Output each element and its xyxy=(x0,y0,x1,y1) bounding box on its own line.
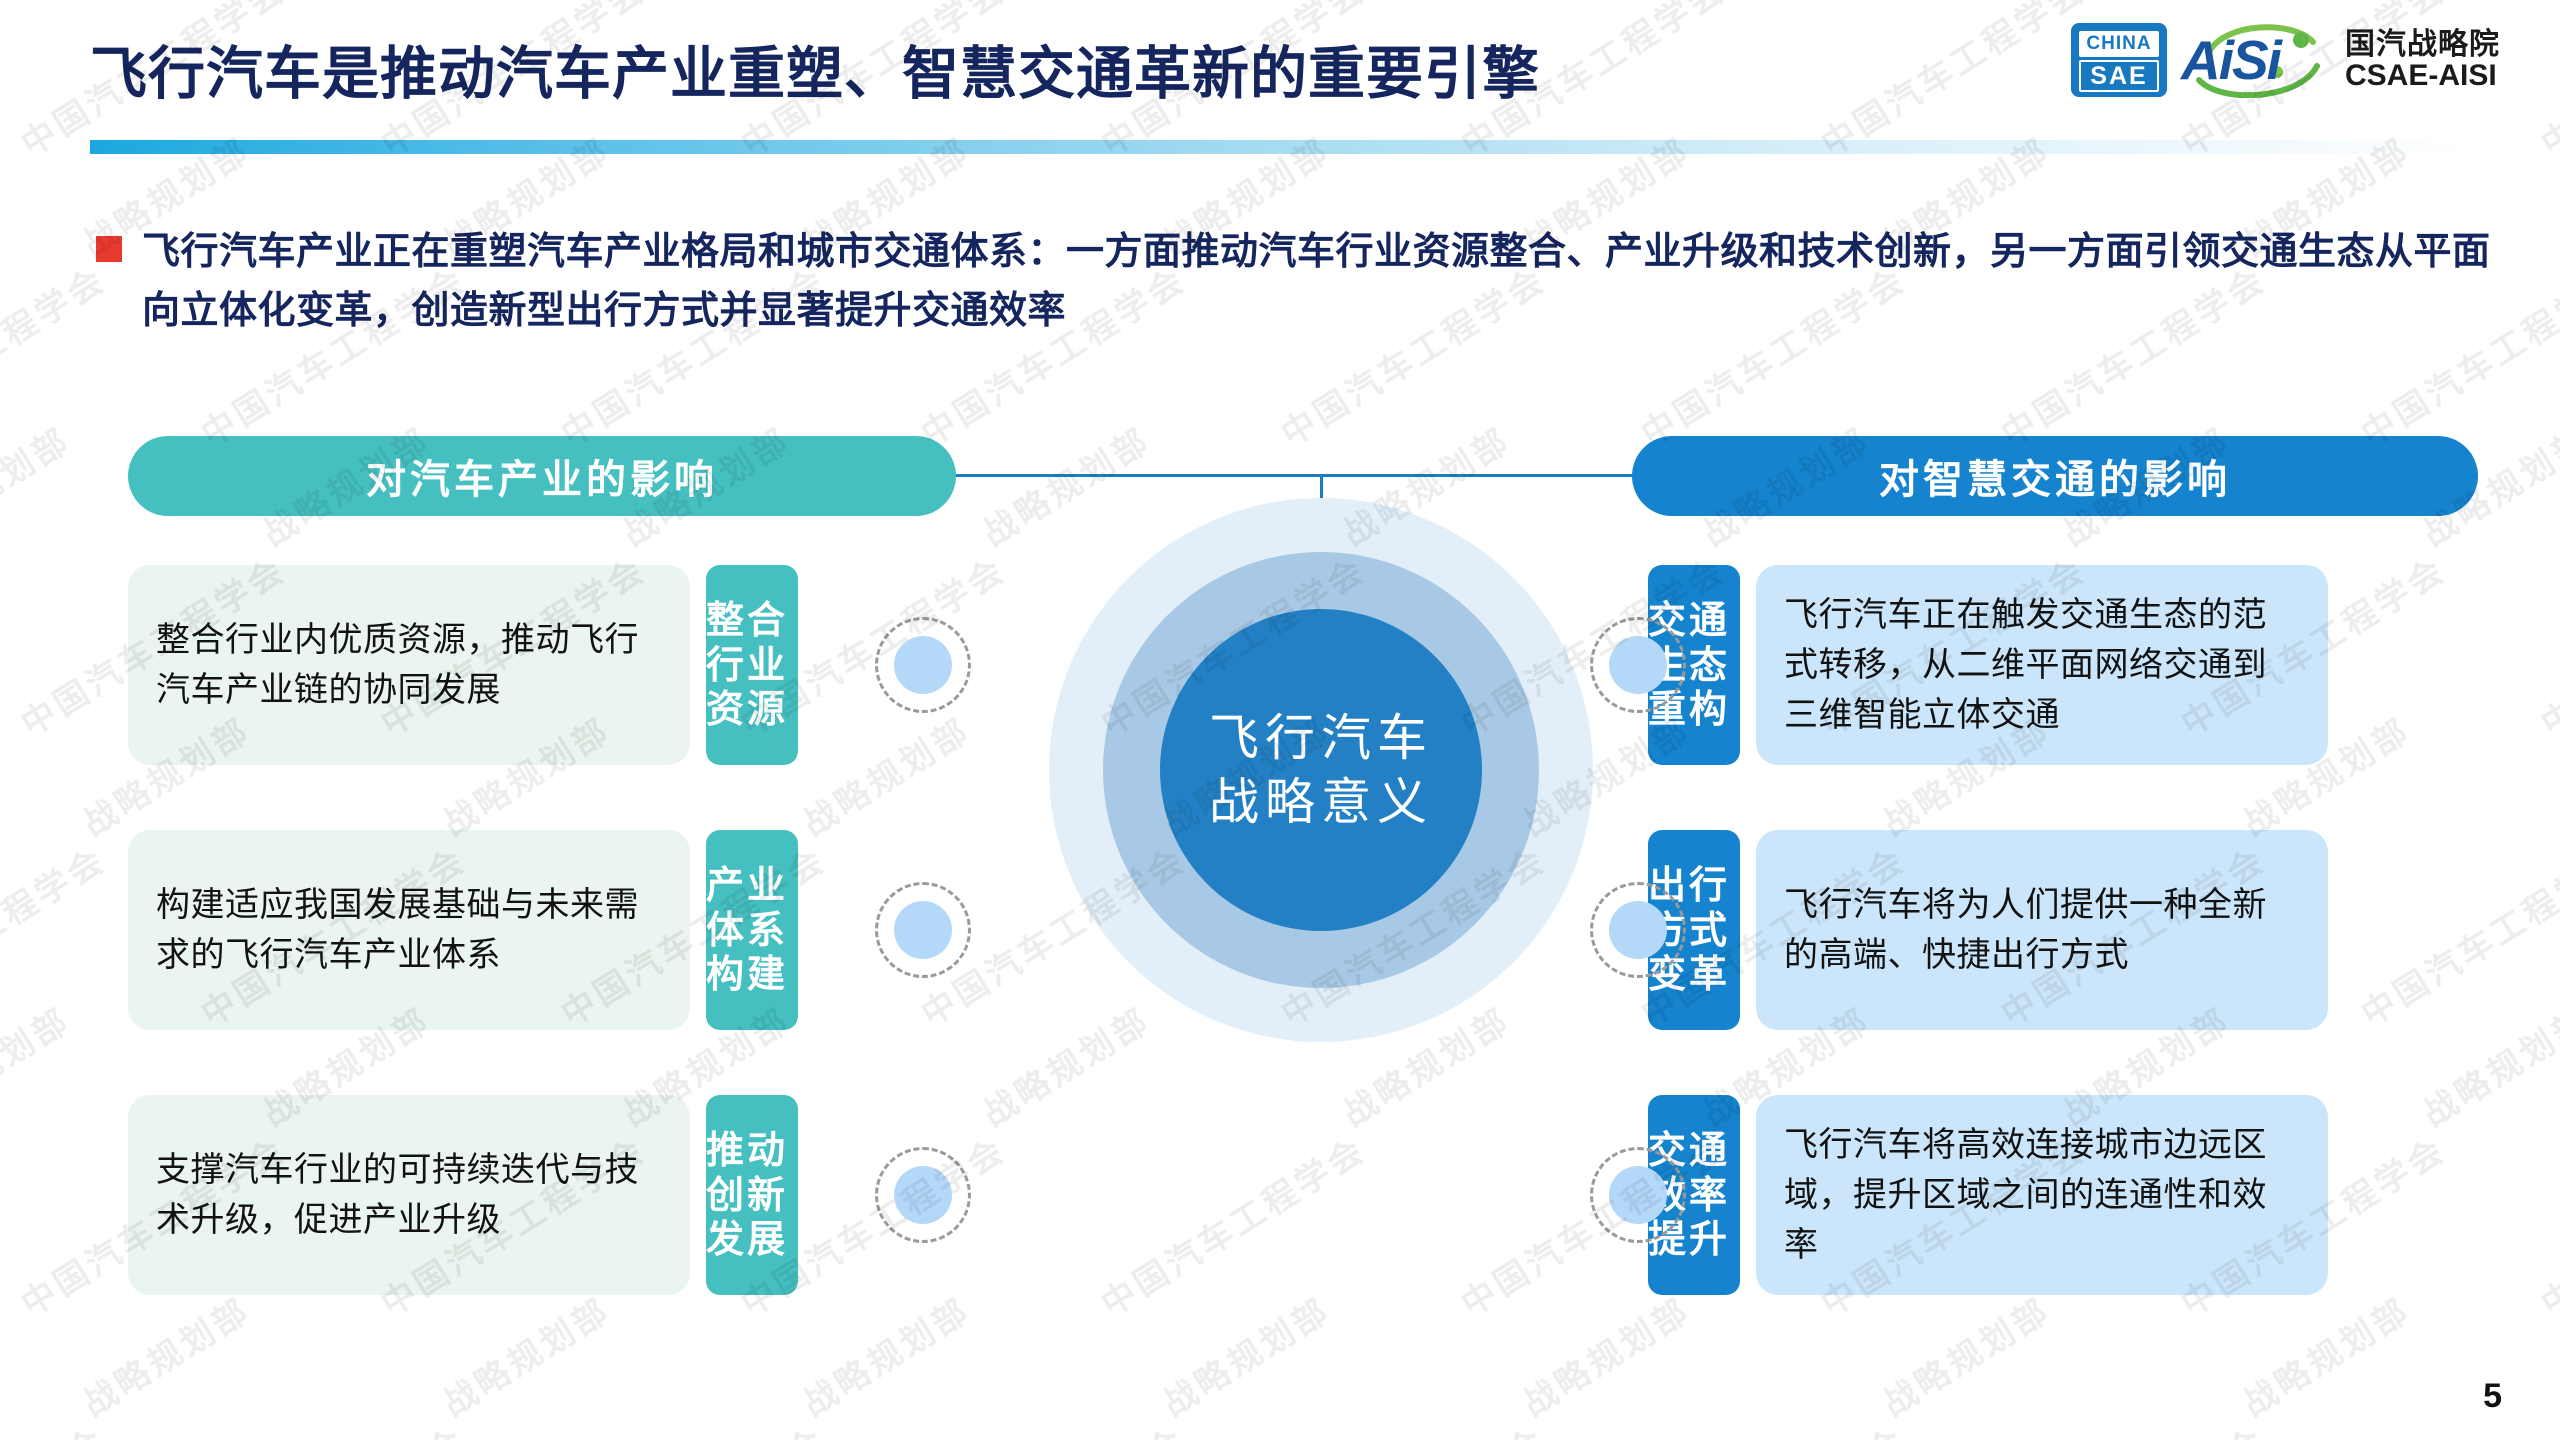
sae-bottom-label: SAE xyxy=(2079,60,2159,92)
page-number: 5 xyxy=(2483,1377,2502,1416)
left-tag-2[interactable]: 产业体系构建 xyxy=(706,830,798,1030)
left-body-2: 构建适应我国发展基础与未来需求的飞行汽车产业体系 xyxy=(128,830,690,1030)
node-dot-core-icon xyxy=(894,1166,952,1224)
node-dot-left-3 xyxy=(875,1147,971,1243)
right-body-3: 飞行汽车将高效连接城市边远区域，提升区域之间的连通性和效率 xyxy=(1756,1095,2328,1295)
institute-name-cn: 国汽战略院 xyxy=(2345,29,2500,61)
connector-line-left xyxy=(946,474,1294,477)
left-column-banner[interactable]: 对汽车产业的影响 xyxy=(128,436,956,516)
left-tag-3[interactable]: 推动创新发展 xyxy=(706,1095,798,1295)
center-title-line1: 飞行汽车 xyxy=(1209,706,1433,770)
brand-logo-group: CHINA SAE AiSi 国汽战略院 CSAE-AISI xyxy=(2071,22,2500,98)
left-row-1: 整合行业内优质资源，推动飞行汽车产业链的协同发展 整合行业资源 xyxy=(128,565,798,765)
institute-name: 国汽战略院 CSAE-AISI xyxy=(2345,29,2500,92)
node-dot-right-2 xyxy=(1590,882,1686,978)
right-row-2: 出行方式变革 飞行汽车将为人们提供一种全新的高端、快捷出行方式 xyxy=(1648,830,2328,1030)
right-body-1: 飞行汽车正在触发交通生态的范式转移，从二维平面网络交通到三维智能立体交通 xyxy=(1756,565,2328,765)
right-body-2: 飞行汽车将为人们提供一种全新的高端、快捷出行方式 xyxy=(1756,830,2328,1030)
node-dot-core-icon xyxy=(894,636,952,694)
left-tag-1[interactable]: 整合行业资源 xyxy=(706,565,798,765)
connector-line-right xyxy=(1294,474,1642,477)
aisi-wordmark: AiSi xyxy=(2181,28,2280,92)
aisi-logo: AiSi xyxy=(2181,22,2331,98)
node-dot-right-3 xyxy=(1590,1147,1686,1243)
lead-bullet-text: 飞行汽车产业正在重塑汽车产业格局和城市交通体系：一方面推动汽车行业资源整合、产业… xyxy=(142,222,2496,340)
title-divider xyxy=(90,140,2470,154)
page-title: 飞行汽车是推动汽车产业重塑、智慧交通革新的重要引擎 xyxy=(90,28,1540,110)
china-sae-logo: CHINA SAE xyxy=(2071,23,2167,97)
bullet-marker-icon xyxy=(96,236,122,262)
institute-name-en: CSAE-AISI xyxy=(2345,60,2500,92)
center-core-circle: 飞行汽车 战略意义 xyxy=(1160,609,1482,931)
node-dot-left-1 xyxy=(875,617,971,713)
right-row-3: 交通效率提升 飞行汽车将高效连接城市边远区域，提升区域之间的连通性和效率 xyxy=(1648,1095,2328,1295)
left-row-3: 支撑汽车行业的可持续迭代与技术升级，促进产业升级 推动创新发展 xyxy=(128,1095,798,1295)
strategy-diagram: 对汽车产业的影响 对智慧交通的影响 飞行汽车 战略意义 整合行业内优质资源，推动… xyxy=(0,0,2560,1440)
right-row-1: 交通生态重构 飞行汽车正在触发交通生态的范式转移，从二维平面网络交通到三维智能立… xyxy=(1648,565,2328,765)
slide-header: 飞行汽车是推动汽车产业重塑、智慧交通革新的重要引擎 CHINA SAE AiSi… xyxy=(0,0,2560,160)
left-body-1: 整合行业内优质资源，推动飞行汽车产业链的协同发展 xyxy=(128,565,690,765)
lead-bullet: 飞行汽车产业正在重塑汽车产业格局和城市交通体系：一方面推动汽车行业资源整合、产业… xyxy=(96,222,2496,340)
left-row-2: 构建适应我国发展基础与未来需求的飞行汽车产业体系 产业体系构建 xyxy=(128,830,798,1030)
node-dot-core-icon xyxy=(1609,636,1667,694)
sae-top-label: CHINA xyxy=(2079,31,2159,57)
right-column-banner[interactable]: 对智慧交通的影响 xyxy=(1632,436,2478,516)
node-dot-core-icon xyxy=(894,901,952,959)
node-dot-core-icon xyxy=(1609,1166,1667,1224)
node-dot-core-icon xyxy=(1609,901,1667,959)
center-title-line2: 战略意义 xyxy=(1209,770,1433,834)
node-dot-right-1 xyxy=(1590,617,1686,713)
left-body-3: 支撑汽车行业的可持续迭代与技术升级，促进产业升级 xyxy=(128,1095,690,1295)
node-dot-left-2 xyxy=(875,882,971,978)
